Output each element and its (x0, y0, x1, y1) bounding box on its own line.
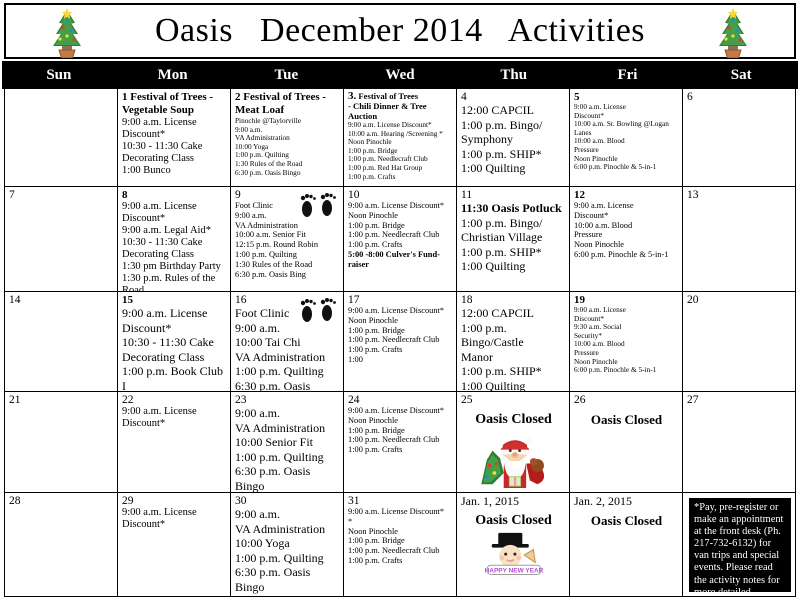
day-number: 27 (687, 394, 792, 406)
weekday-fri: Fri (571, 61, 685, 89)
day-cell-28[interactable]: 28 (5, 493, 118, 596)
calendar-banner: Oasis December 2014 Activities (4, 3, 796, 59)
day-cell-16[interactable]: 16 Foot Clinic 9:00 a.m. 10:00 Tai Chi V… (231, 292, 344, 391)
day-cell-note: *Pay, pre-register or make an appointmen… (683, 493, 795, 596)
day-cell-6[interactable]: 6 (683, 89, 795, 186)
status-badge-closed: Oasis Closed (574, 513, 679, 529)
day-events: 12:00 CAPCIL 1:00 p.m. Bingo/Castle Mano… (461, 306, 566, 391)
day-number: 28 (9, 495, 114, 507)
day-cell-3[interactable]: 3. Festival of Trees - Chili Dinner & Tr… (344, 89, 457, 186)
day-number: 17 (348, 294, 453, 306)
weekday-sun: Sun (2, 61, 116, 89)
christmas-tree-icon (710, 8, 756, 58)
status-badge-closed: Oasis Closed (574, 412, 679, 428)
day-cell-empty[interactable] (5, 89, 118, 186)
baby-banner-text: HAPPY NEW YEAR (484, 568, 543, 575)
day-cell-26[interactable]: 26 Oasis Closed (570, 392, 683, 492)
day-number: 15 (122, 294, 227, 306)
day-events-highlight: 11:30 Oasis Potluck (461, 201, 566, 216)
day-number: 30 (235, 495, 340, 507)
day-cell-18[interactable]: 18 12:00 CAPCIL 1:00 p.m. Bingo/Castle M… (457, 292, 570, 391)
day-cell-13[interactable]: 13 (683, 187, 795, 291)
day-events: 9:00 a.m. License Discount* 10:00 a.m. B… (574, 201, 679, 260)
day-events-highlight: 5:00 -8:00 Culver's Fund- raiser (348, 250, 453, 270)
day-cell-24[interactable]: 24 9:00 a.m. License Discount* Noon Pino… (344, 392, 457, 492)
day-title: 2 Festival of Trees - Meat Loaf (235, 91, 340, 117)
new-year-baby-icon: HAPPY NEW YEAR (461, 529, 566, 581)
day-events: 9:00 a.m. License Discount* (122, 406, 227, 430)
day-number: 10 (348, 189, 453, 201)
day-events: 9:00 a.m. License Discount* * Noon Pinoc… (348, 507, 453, 566)
weekday-sat: Sat (684, 61, 798, 89)
status-badge-closed: Oasis Closed (461, 513, 566, 529)
day-cell-19[interactable]: 19 9:00 a.m. License Discount* 9:30 a.m.… (570, 292, 683, 391)
day-number: 1 (122, 91, 128, 103)
day-number: 14 (9, 294, 114, 306)
day-events: 9:00 a.m. License Discount* (122, 507, 227, 531)
page-title: Oasis December 2014 Activities (155, 12, 645, 50)
day-cell-11[interactable]: 11 11:30 Oasis Potluck 1:00 p.m. Bingo/ … (457, 187, 570, 291)
weekday-wed: Wed (343, 61, 457, 89)
day-cell-30[interactable]: 30 9:00 a.m. VA Administration 10:00 Yog… (231, 493, 344, 596)
day-events: 9:00 a.m. VA Administration 10:00 Senior… (235, 406, 340, 492)
day-number: 4 (461, 91, 566, 103)
calendar-grid: 1 Festival of Trees - Vegetable Soup 9:0… (4, 89, 796, 597)
day-cell-jan-2[interactable]: Jan. 2, 2015 Oasis Closed (570, 493, 683, 596)
day-cell-17[interactable]: 17 9:00 a.m. License Discount* Noon Pino… (344, 292, 457, 391)
day-subtitle: - Chili Dinner & Tree Auction (348, 101, 453, 121)
day-events: 9:00 a.m. License Discount* 10:30 - 11:3… (122, 117, 227, 177)
day-cell-14[interactable]: 14 (5, 292, 118, 391)
day-events: 9:00 a.m. License Discount* 9:30 a.m. So… (574, 306, 679, 375)
day-cell-5[interactable]: 5 9:00 a.m. License Discount* 10:00 a.m.… (570, 89, 683, 186)
day-number: 22 (122, 394, 227, 406)
footprints-icon (297, 189, 337, 219)
day-number: 12 (574, 189, 679, 201)
calendar-week-row: 7 8 9:00 a.m. License Discount* 9:00 a.m… (5, 187, 795, 292)
day-title-text: Festival of Trees - Meat Loaf (235, 91, 326, 116)
day-cell-31[interactable]: 31 9:00 a.m. License Discount* * Noon Pi… (344, 493, 457, 596)
day-cell-jan-1[interactable]: Jan. 1, 2015 Oasis Closed (457, 493, 570, 596)
day-events: 9:00 a.m. License Discount* 10:30 - 11:3… (122, 306, 227, 391)
day-number: Jan. 2, 2015 (574, 495, 679, 507)
day-events: 9:00 a.m. License Discount* 9:00 a.m. Le… (122, 201, 227, 291)
calendar-week-row: 1 Festival of Trees - Vegetable Soup 9:0… (5, 89, 795, 187)
day-title: 1 Festival of Trees - Vegetable Soup (122, 91, 227, 117)
day-cell-27[interactable]: 27 (683, 392, 795, 492)
day-events: 9:00 a.m. License Discount* Noon Pinochl… (348, 306, 453, 365)
day-number: 24 (348, 394, 453, 406)
day-number: 31 (348, 495, 453, 507)
day-cell-29[interactable]: 29 9:00 a.m. License Discount* (118, 493, 231, 596)
day-cell-22[interactable]: 22 9:00 a.m. License Discount* (118, 392, 231, 492)
day-cell-8[interactable]: 8 9:00 a.m. License Discount* 9:00 a.m. … (118, 187, 231, 291)
day-cell-15[interactable]: 15 9:00 a.m. License Discount* 10:30 - 1… (118, 292, 231, 391)
day-cell-2[interactable]: 2 Festival of Trees - Meat Loaf Pinochle… (231, 89, 344, 186)
day-cell-23[interactable]: 23 9:00 a.m. VA Administration 10:00 Sen… (231, 392, 344, 492)
day-number: 18 (461, 294, 566, 306)
day-cell-12[interactable]: 12 9:00 a.m. License Discount* 10:00 a.m… (570, 187, 683, 291)
day-cell-7[interactable]: 7 (5, 187, 118, 291)
day-number: 13 (687, 189, 792, 201)
day-number: 11 (461, 189, 566, 201)
day-cell-25[interactable]: 25 Oasis Closed (457, 392, 570, 492)
weekday-mon: Mon (116, 61, 230, 89)
day-number: 23 (235, 394, 340, 406)
weekday-thu: Thu (457, 61, 571, 89)
day-number: 21 (9, 394, 114, 406)
day-number: Jan. 1, 2015 (461, 495, 566, 507)
christmas-tree-icon (44, 8, 90, 58)
day-cell-9[interactable]: 9 Foot Clinic 9:00 a.m. VA Administratio… (231, 187, 344, 291)
activity-note-box: *Pay, pre-register or make an appointmen… (689, 498, 791, 592)
day-events: 9:00 a.m. VA Administration 10:00 Yoga 1… (235, 507, 340, 594)
santa-claus-icon (461, 428, 566, 488)
day-number: 2 (235, 91, 241, 103)
day-events: 9:00 a.m. License Discount* 10:00 a.m. S… (574, 103, 679, 172)
day-cell-10[interactable]: 10 9:00 a.m. License Discount* Noon Pino… (344, 187, 457, 291)
day-number: 20 (687, 294, 792, 306)
day-title-text: Festival of Trees - Vegetable Soup (122, 91, 213, 116)
calendar-week-row: 21 22 9:00 a.m. License Discount* 23 9:0… (5, 392, 795, 493)
day-events: 9:00 a.m. License Discount* 10:00 a.m. H… (348, 121, 453, 181)
day-events: 12:00 CAPCIL 1:00 p.m. Bingo/ Symphony 1… (461, 103, 566, 176)
day-number: 25 (461, 394, 566, 406)
day-events: Pinochle @Taylorville 9:00 a.m. VA Admin… (235, 117, 340, 177)
day-cell-21[interactable]: 21 (5, 392, 118, 492)
weekday-header-row: Sun Mon Tue Wed Thu Fri Sat (2, 61, 798, 89)
day-number: 26 (574, 394, 679, 406)
weekday-tue: Tue (229, 61, 343, 89)
day-events: 1:00 p.m. Bingo/ Christian Village 1:00 … (461, 216, 566, 274)
day-title-text: Festival of Trees (358, 91, 418, 101)
day-number: 8 (122, 189, 227, 201)
day-cell-4[interactable]: 4 12:00 CAPCIL 1:00 p.m. Bingo/ Symphony… (457, 89, 570, 186)
calendar-week-row: 14 15 9:00 a.m. License Discount* 10:30 … (5, 292, 795, 392)
day-cell-1[interactable]: 1 Festival of Trees - Vegetable Soup 9:0… (118, 89, 231, 186)
day-number: 29 (122, 495, 227, 507)
day-cell-20[interactable]: 20 (683, 292, 795, 391)
day-events: 9:00 a.m. License Discount* Noon Pinochl… (348, 406, 453, 455)
day-title: 3. Festival of Trees (348, 91, 453, 101)
calendar-week-row: 28 29 9:00 a.m. License Discount* 30 9:0… (5, 493, 795, 596)
status-badge-closed: Oasis Closed (461, 412, 566, 428)
day-events: 9:00 a.m. License Discount* Noon Pinochl… (348, 201, 453, 250)
footprints-icon (297, 294, 337, 324)
calendar-page: Oasis December 2014 Activities (0, 3, 800, 609)
day-number: 7 (9, 189, 114, 201)
day-number: 6 (687, 91, 792, 103)
